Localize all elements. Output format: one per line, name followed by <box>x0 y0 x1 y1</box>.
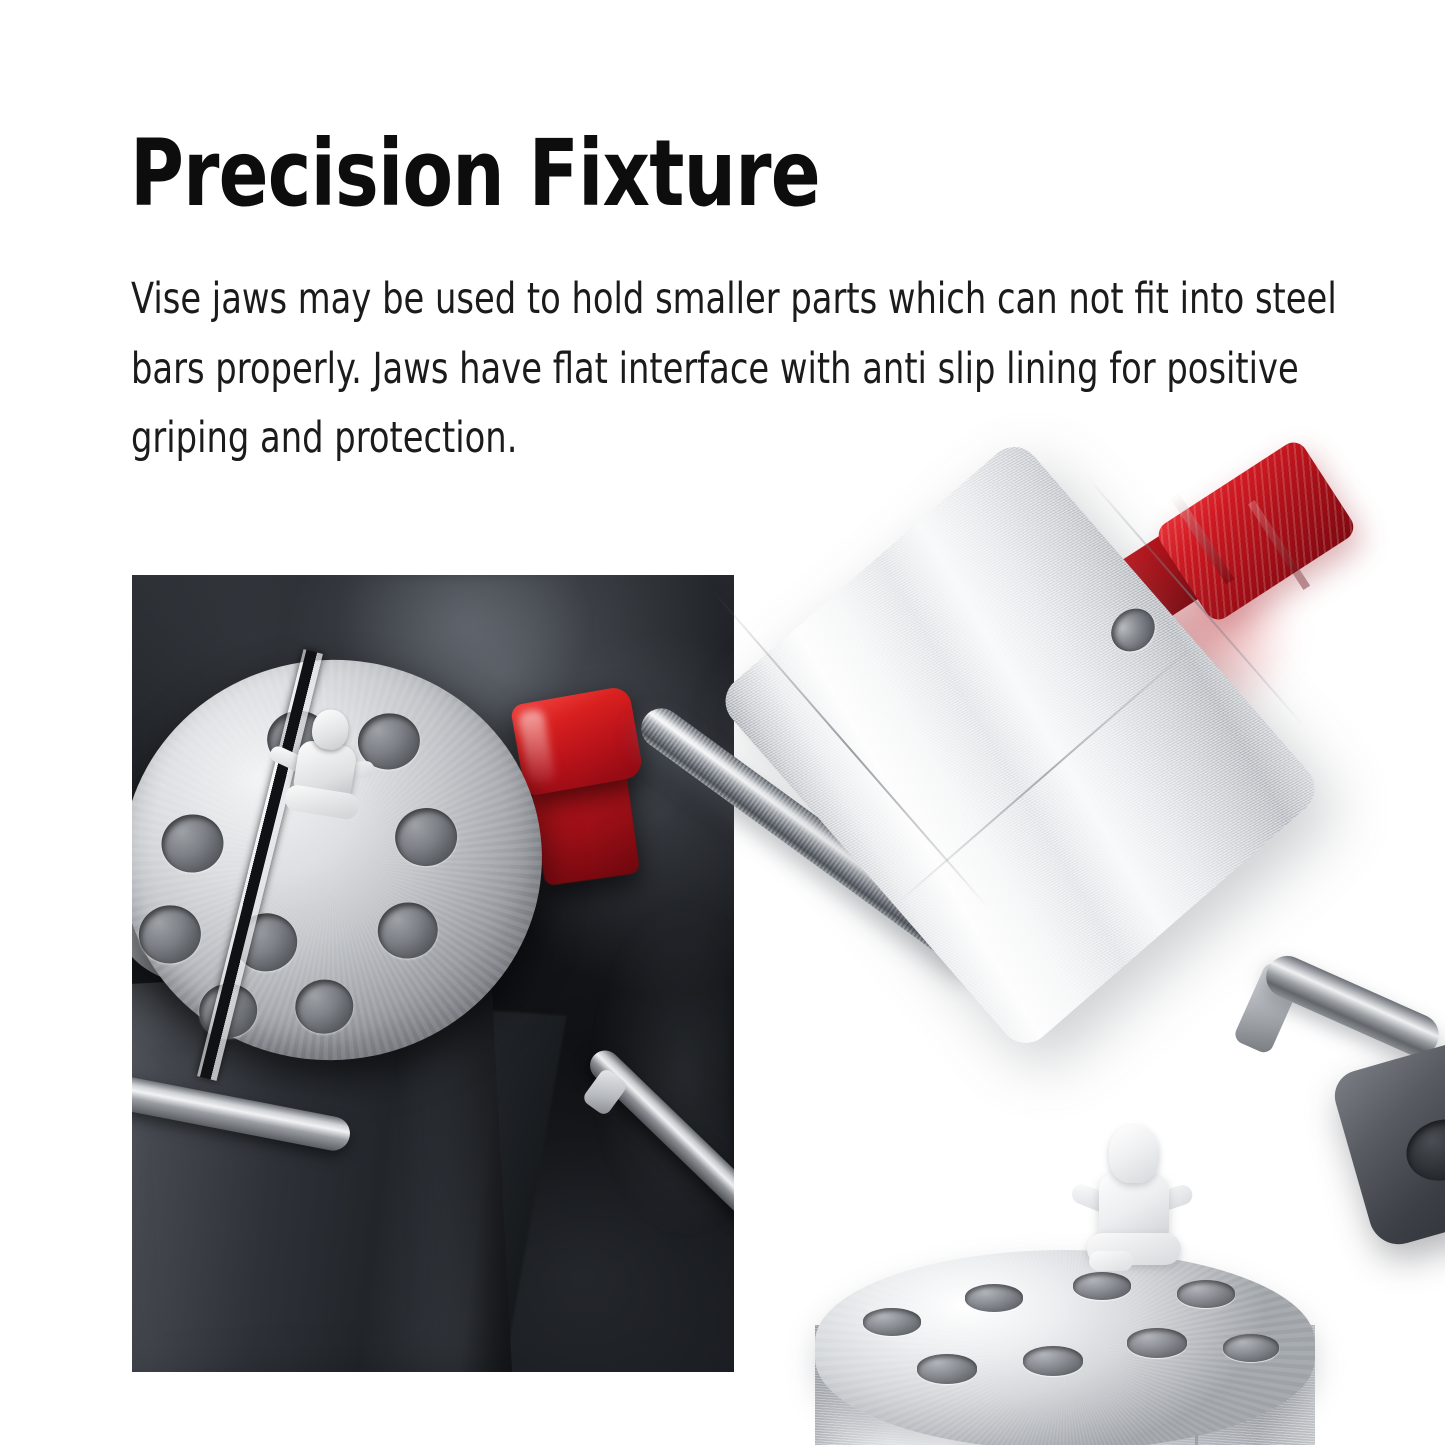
photo-plate-hole <box>293 977 356 1037</box>
render-plate-hole <box>863 1308 921 1336</box>
render-plate-hole <box>1023 1346 1083 1376</box>
page-title: Precision Fixture <box>130 128 820 220</box>
photo-plate-hole <box>375 899 441 961</box>
photo-plate-hole <box>159 811 227 875</box>
render-plate-hole <box>1223 1334 1279 1362</box>
render-figure-torso <box>1099 1173 1169 1241</box>
render-plate-hole <box>965 1284 1023 1312</box>
render-plate-hole <box>917 1354 977 1384</box>
render-plate-hole <box>1127 1328 1187 1358</box>
product-photo <box>132 575 734 1372</box>
render-figure-foot <box>1089 1251 1133 1271</box>
product-feature-page: Precision Fixture Vise jaws may be used … <box>0 0 1445 1445</box>
product-render <box>700 420 1445 1445</box>
render-jaw-plate <box>815 1250 1315 1445</box>
render-figure-head <box>1109 1125 1159 1183</box>
photo-miniature-figure <box>273 703 387 837</box>
render-plate-hole <box>1177 1280 1235 1308</box>
render-miniature-figure <box>1075 1125 1195 1275</box>
render-plate-hole <box>1073 1272 1131 1300</box>
photo-plate-hole <box>392 805 460 869</box>
